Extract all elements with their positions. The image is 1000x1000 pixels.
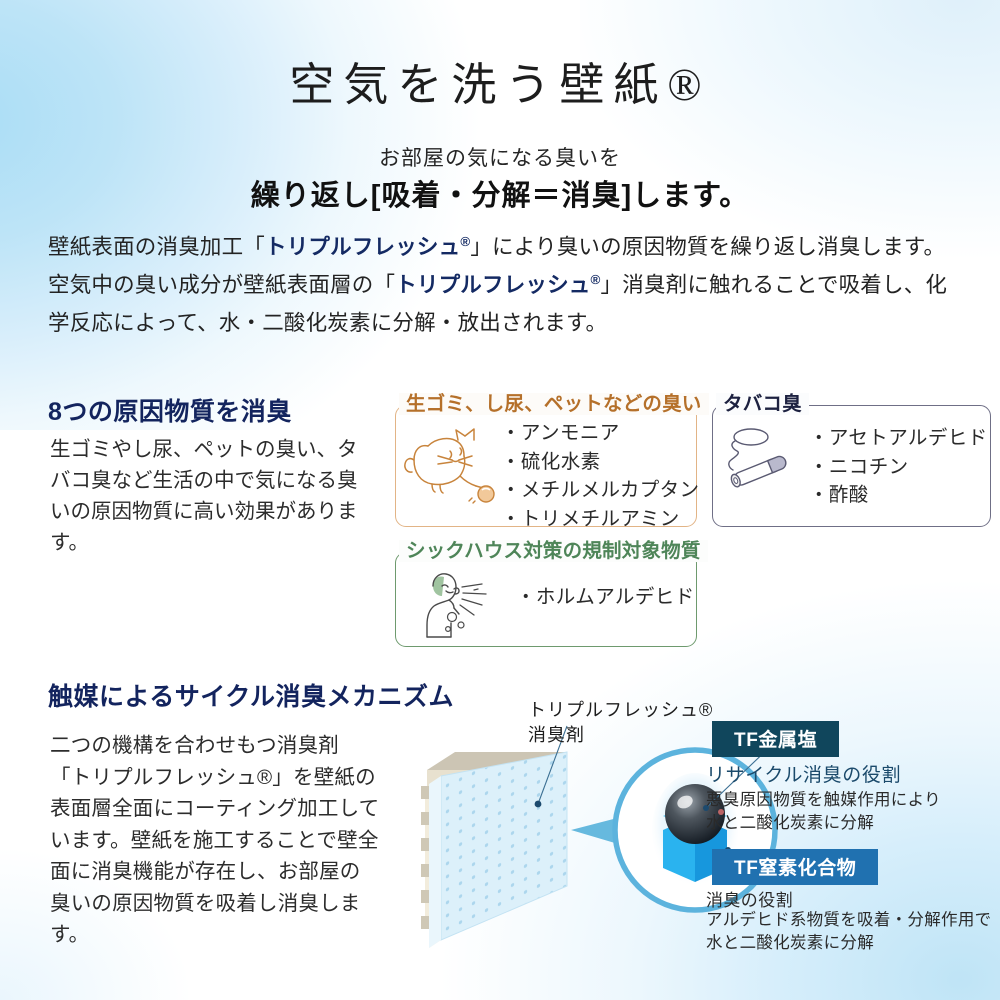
badge-tf-metal-salt: TF金属塩: [712, 721, 839, 757]
brand-name-1: トリプルフレッシュ: [265, 235, 460, 259]
diagram-wallpaper-label: トリプルフレッシュ®消臭剤: [528, 698, 713, 748]
list-item: ・トリメチルアミン: [501, 505, 699, 534]
wallpaper-cross-section: [421, 752, 567, 948]
list-item: ・ニコチン: [809, 453, 988, 482]
list-item: ・硫化水素: [501, 448, 699, 477]
cigarette-icon: [721, 428, 807, 499]
page-title: 空気を洗う壁紙®: [0, 48, 1000, 113]
section-2-heading: 触媒によるサイクル消臭メカニズム: [48, 677, 454, 713]
odor-box-waste: 生ゴミ、し尿、ペットなどの臭い: [395, 405, 697, 527]
coughing-person-icon: [418, 567, 510, 648]
list-item: ・メチルメルカプタン: [501, 476, 699, 505]
registered-mark-2: ®: [591, 272, 601, 287]
odor-box-waste-legend: 生ゴミ、し尿、ペットなどの臭い: [399, 393, 709, 415]
tf-metal-salt-role-title: リサイクル消臭の役割: [706, 760, 901, 787]
leader-dot-wallpaper: [535, 801, 542, 808]
odor-box-tobacco-items: ・アセトアルデヒド ・ニコチン ・酢酸: [809, 424, 988, 510]
badge-tf-nitrogen-compound: TF窒素化合物: [712, 849, 878, 885]
subtitle-line-2: 繰り返し[吸着・分解＝消臭]します。: [0, 172, 1000, 214]
list-item: ・アンモニア: [501, 419, 699, 448]
cat-icon: [402, 424, 498, 509]
tf-nitrogen-role-desc: アルデヒド系物質を吸着・分解作用で水と二酸化炭素に分解: [706, 909, 991, 955]
odor-box-waste-items: ・アンモニア ・硫化水素 ・メチルメルカプタン ・トリメチルアミン: [501, 419, 699, 533]
brand-name-2: トリプルフレッシュ: [395, 273, 590, 297]
odor-box-sickhouse-items: ・ホルムアルデヒド: [516, 583, 695, 612]
list-item: ・アセトアルデヒド: [809, 424, 988, 453]
list-item: ・ホルムアルデヒド: [516, 583, 695, 612]
odor-box-sickhouse-legend: シックハウス対策の規制対象物質: [399, 540, 708, 562]
odor-box-sickhouse: シックハウス対策の規制対象物質: [395, 552, 697, 647]
odor-box-tobacco-legend: タバコ臭: [716, 393, 809, 415]
subtitle-line-1: お部屋の気になる臭いを: [0, 142, 1000, 172]
tf-nitrogen-role-title: 消臭の役割: [706, 886, 793, 911]
tf-metal-salt-role-desc: 悪臭原因物質を触媒作用により水と二酸化炭素に分解: [706, 789, 941, 835]
intro-text-part-1: 壁紙表面の消臭加工「: [48, 235, 265, 259]
section-1-body: 生ゴミやし尿、ペットの臭い、タバコ臭など生活の中で気になる臭いの原因物質に高い効…: [50, 434, 360, 558]
section-1-heading: 8つの原因物質を消臭: [48, 392, 292, 428]
registered-mark-1: ®: [460, 234, 470, 249]
list-item: ・酢酸: [809, 481, 988, 510]
background-gradient-top-right: [580, 0, 1000, 260]
intro-paragraph: 壁紙表面の消臭加工「トリプルフレッシュ®」により臭いの原因物質を繰り返し消臭しま…: [48, 228, 954, 342]
section-2-body: 二つの機構を合わせもつ消臭剤「トリプルフレッシュ®」を壁紙の表面層全面にコーティ…: [50, 730, 380, 951]
odor-box-tobacco: タバコ臭 ・アセトアルデヒド ・ニコチン ・酢酸: [712, 405, 991, 527]
